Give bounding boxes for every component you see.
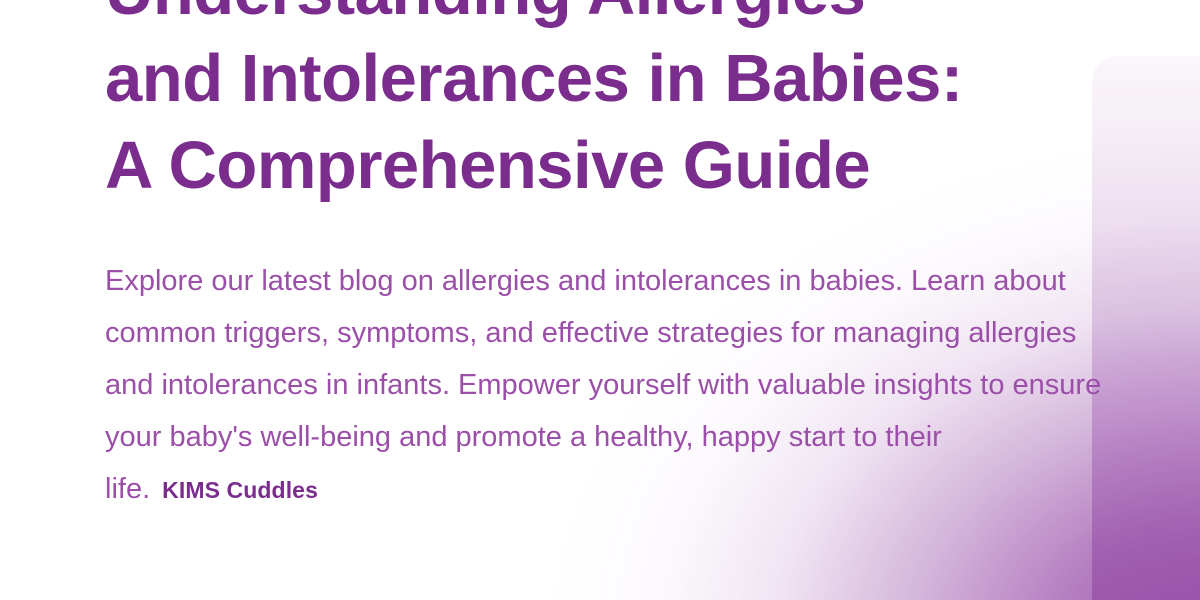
banner-description: Explore our latest blog on allergies and… [105, 255, 1105, 516]
brand-name: KIMS Cuddles [150, 477, 318, 503]
banner-description-text: Explore our latest blog on allergies and… [105, 265, 1101, 505]
banner-content: Understanding Allergies and Intolerances… [0, 0, 1200, 600]
page-title: Understanding Allergies and Intolerances… [105, 0, 1105, 209]
blog-banner: Understanding Allergies and Intolerances… [0, 0, 1200, 600]
